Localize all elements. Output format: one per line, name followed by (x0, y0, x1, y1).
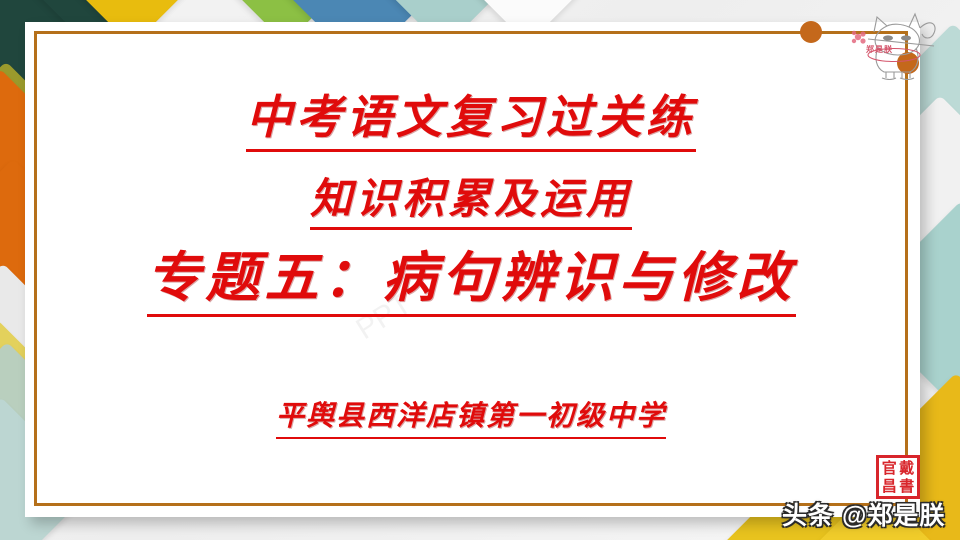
title-line-2: 知识积累及运用 (310, 176, 632, 230)
cat-doodle-label: 郑是朕 (866, 44, 893, 55)
seal-char-1: 官 (881, 460, 898, 477)
title-block: 中考语文复习过关练 知识积累及运用 专题五：病句辨识与修改 平舆县西洋店镇第一初… (34, 31, 908, 506)
school-name: 平舆县西洋店镇第一初级中学 (276, 401, 666, 438)
presentation-slide: PPT 中考语文复习过关练 知识积累及运用 专题五：病句辨识与修改 平舆县西洋店… (0, 0, 960, 540)
red-seal-stamp: 官 戴 昌 書 (876, 455, 920, 499)
toutiao-watermark: 头条 @郑是朕 (782, 496, 945, 532)
cat-doodle-icon (846, 6, 942, 80)
title-line-3: 专题五：病句辨识与修改 (147, 248, 796, 317)
seal-char-2: 戴 (899, 460, 916, 477)
seal-char-3: 昌 (881, 478, 898, 495)
flower-icon (852, 31, 866, 44)
seal-char-4: 書 (899, 478, 916, 495)
title-line-1: 中考语文复习过关练 (246, 93, 696, 152)
